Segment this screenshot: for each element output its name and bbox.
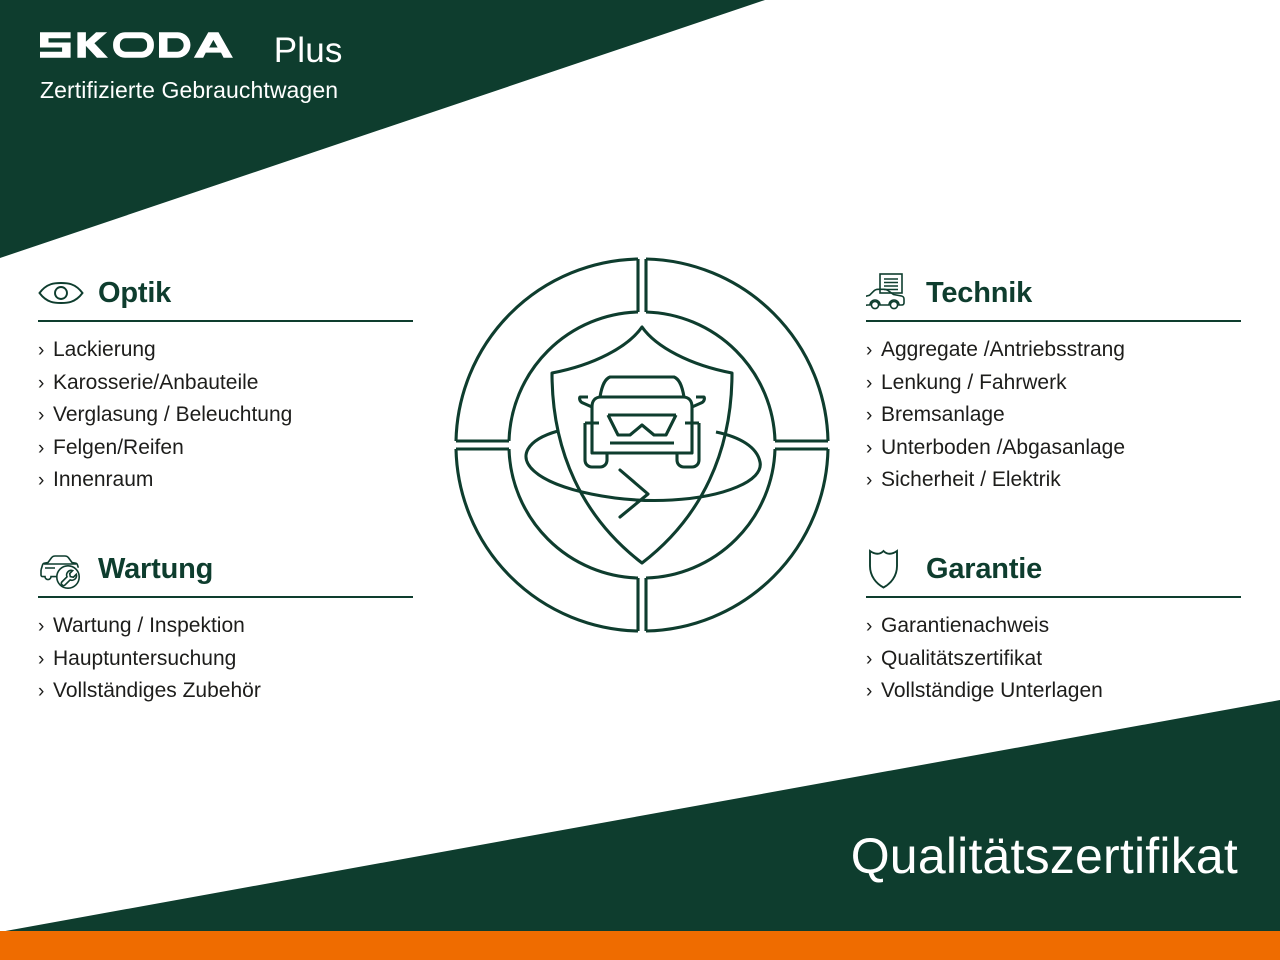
list-item-label: Qualitätszertifikat	[881, 643, 1042, 675]
certificate-page: Plus Zertifizierte Gebrauchtwagen Optik …	[0, 0, 1280, 960]
chevron-right-icon: ›	[866, 465, 881, 497]
emblem-shield	[552, 327, 732, 563]
list-item: ›Vollständige Unterlagen	[866, 675, 1241, 708]
chevron-right-icon: ›	[38, 611, 53, 643]
section-title: Technik	[926, 279, 1032, 308]
emblem-outer-ring	[456, 259, 828, 631]
chevron-right-icon: ›	[38, 676, 53, 708]
section-garantie: Garantie ›Garantienachweis ›Qualitätszer…	[866, 548, 1241, 708]
emblem-inner-ring	[509, 312, 775, 578]
section-header: Optik	[38, 272, 413, 314]
section-title: Wartung	[98, 555, 213, 584]
list-item: ›Lackierung	[38, 334, 413, 367]
section-item-list: ›Aggregate /Antriebsstrang ›Lenkung / Fa…	[866, 322, 1241, 497]
car-wrench-icon	[38, 549, 84, 589]
list-item-label: Vollständiges Zubehör	[53, 675, 261, 707]
list-item: ›Garantienachweis	[866, 610, 1241, 643]
list-item-label: Karosserie/Anbauteile	[53, 367, 258, 399]
chevron-right-icon: ›	[866, 644, 881, 676]
car-document-icon	[866, 273, 912, 313]
chevron-right-icon: ›	[866, 676, 881, 708]
section-title: Optik	[98, 279, 171, 308]
list-item: ›Verglasung / Beleuchtung	[38, 399, 413, 432]
list-item: ›Aggregate /Antriebsstrang	[866, 334, 1241, 367]
list-item-label: Vollständige Unterlagen	[881, 675, 1103, 707]
section-item-list: ›Wartung / Inspektion ›Hauptuntersuchung…	[38, 598, 413, 708]
section-header: Wartung	[38, 548, 413, 590]
shield-icon	[866, 549, 912, 589]
section-item-list: ›Lackierung ›Karosserie/Anbauteile ›Verg…	[38, 322, 413, 497]
section-title: Garantie	[926, 555, 1042, 584]
shield-car-rotation-emblem	[452, 255, 832, 635]
list-item-label: Hauptuntersuchung	[53, 643, 236, 675]
chevron-right-icon: ›	[38, 465, 53, 497]
orange-accent-bar	[0, 931, 1280, 960]
list-item-label: Felgen/Reifen	[53, 432, 184, 464]
list-item: ›Sicherheit / Elektrik	[866, 464, 1241, 497]
chevron-right-icon: ›	[866, 611, 881, 643]
list-item-label: Verglasung / Beleuchtung	[53, 399, 292, 431]
list-item-label: Bremsanlage	[881, 399, 1005, 431]
chevron-right-icon: ›	[38, 335, 53, 367]
brand-tagline: Zertifizierte Gebrauchtwagen	[40, 77, 343, 104]
list-item: ›Felgen/Reifen	[38, 432, 413, 465]
section-technik: Technik ›Aggregate /Antriebsstrang ›Lenk…	[866, 272, 1241, 497]
list-item-label: Unterboden /Abgasanlage	[881, 432, 1125, 464]
chevron-right-icon: ›	[866, 368, 881, 400]
brand-logo-row: Plus	[40, 28, 343, 70]
chevron-right-icon: ›	[38, 368, 53, 400]
list-item: ›Lenkung / Fahrwerk	[866, 367, 1241, 400]
list-item: ›Wartung / Inspektion	[38, 610, 413, 643]
list-item-label: Lenkung / Fahrwerk	[881, 367, 1067, 399]
list-item-label: Innenraum	[53, 464, 153, 496]
list-item: ›Qualitätszertifikat	[866, 643, 1241, 676]
chevron-right-icon: ›	[38, 433, 53, 465]
chevron-right-icon: ›	[38, 400, 53, 432]
list-item-label: Sicherheit / Elektrik	[881, 464, 1061, 496]
section-header: Garantie	[866, 548, 1241, 590]
page-title: Qualitätszertifikat	[851, 827, 1238, 885]
section-header: Technik	[866, 272, 1241, 314]
chevron-right-icon: ›	[866, 433, 881, 465]
list-item-label: Lackierung	[53, 334, 156, 366]
chevron-right-icon: ›	[866, 400, 881, 432]
footer-green-band	[0, 700, 1280, 932]
emblem-ring-spokes	[456, 259, 828, 631]
brand-suffix: Plus	[274, 33, 343, 68]
list-item: ›Unterboden /Abgasanlage	[866, 432, 1241, 465]
section-optik: Optik ›Lackierung ›Karosserie/Anbauteile…	[38, 272, 413, 497]
list-item: ›Hauptuntersuchung	[38, 643, 413, 676]
list-item: ›Karosserie/Anbauteile	[38, 367, 413, 400]
section-wartung: Wartung ›Wartung / Inspektion ›Hauptunte…	[38, 548, 413, 708]
list-item-label: Aggregate /Antriebsstrang	[881, 334, 1125, 366]
list-item: ›Bremsanlage	[866, 399, 1241, 432]
section-item-list: ›Garantienachweis ›Qualitätszertifikat ›…	[866, 598, 1241, 708]
skoda-wordmark	[40, 28, 263, 62]
list-item-label: Garantienachweis	[881, 610, 1049, 642]
eye-icon	[38, 273, 84, 313]
emblem-car-front	[580, 377, 705, 467]
chevron-right-icon: ›	[866, 335, 881, 367]
brand-lockup: Plus Zertifizierte Gebrauchtwagen	[40, 28, 343, 104]
list-item: ›Innenraum	[38, 464, 413, 497]
list-item: ›Vollständiges Zubehör	[38, 675, 413, 708]
chevron-right-icon: ›	[38, 644, 53, 676]
list-item-label: Wartung / Inspektion	[53, 610, 245, 642]
